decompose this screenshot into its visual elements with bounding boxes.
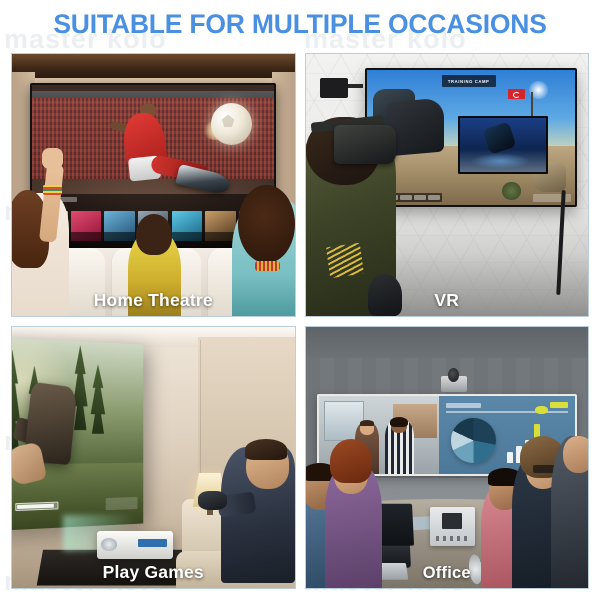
attendee-left-2-hair — [330, 439, 372, 483]
game-bush — [502, 182, 521, 199]
attendee-right-3-head — [563, 436, 589, 473]
viewer-right-hair — [238, 185, 295, 263]
vr-headset — [334, 125, 396, 164]
page-title: SUITABLE FOR MULTIPLE OCCASIONS — [0, 9, 600, 40]
tracking-camera — [320, 78, 348, 99]
panel-vr: TRAINING CAMP — [305, 53, 590, 317]
panel-home-theatre: Home Theatre — [11, 53, 296, 317]
conference-control-tablet[interactable] — [430, 507, 475, 546]
uniform-insignia — [326, 243, 364, 279]
pip-machine — [483, 121, 517, 154]
pie-chart — [451, 418, 496, 463]
caption-home-theatre: Home Theatre — [12, 290, 295, 311]
slide-badge — [550, 402, 568, 408]
viewer-left-fist — [42, 148, 63, 169]
upper-wall — [306, 327, 589, 358]
game-hud-right — [106, 496, 137, 510]
play-games-scene: 91 — [12, 327, 295, 589]
viewer-right-necklace — [255, 261, 280, 271]
conference-camera-icon — [441, 376, 466, 392]
bar — [507, 452, 513, 462]
game-feed: TRAINING CAMP — [367, 70, 575, 205]
remote-participant-1-hair — [360, 420, 374, 426]
slide-title-block — [446, 403, 481, 408]
slide-divider — [446, 411, 568, 413]
caption-play-games: Play Games — [12, 562, 295, 583]
pip-glow — [471, 153, 531, 169]
health-value: 91 — [11, 504, 12, 512]
remote-participant-2-hair — [390, 417, 408, 427]
wall-television: TRAINING CAMP — [365, 68, 577, 207]
occasions-grid: Home Theatre TRAINING CAM — [11, 53, 589, 589]
projection-screen: 91 — [11, 337, 143, 531]
vr-scene: TRAINING CAMP — [306, 54, 589, 316]
game-health-hud: 91 — [11, 499, 59, 515]
picture-in-picture-view — [458, 116, 547, 174]
tv-tile[interactable] — [104, 211, 134, 241]
caption-office: Office — [306, 564, 589, 583]
turkish-flag-icon — [508, 89, 525, 98]
panel-office: Office — [305, 326, 590, 590]
panel-play-games: 91 Play Games — [11, 326, 296, 590]
caption-vr: VR — [306, 290, 589, 311]
tv-tile[interactable] — [205, 211, 235, 241]
wristband — [43, 185, 63, 195]
projector — [97, 531, 173, 560]
game-title-banner: TRAINING CAMP — [442, 75, 496, 87]
game-controller[interactable] — [198, 491, 226, 509]
office-scene — [306, 327, 589, 589]
poster-root: master kolo master kolo master kolo mast… — [0, 0, 600, 600]
tv-tile[interactable] — [172, 211, 202, 241]
home-theatre-scene — [12, 54, 295, 316]
viewer-center-head — [136, 214, 171, 256]
tv-tile[interactable] — [71, 211, 101, 241]
chart-marker-icon — [535, 406, 547, 414]
gamer-hair — [245, 439, 287, 460]
ceiling-beam — [12, 54, 295, 78]
health-bar — [15, 502, 58, 511]
